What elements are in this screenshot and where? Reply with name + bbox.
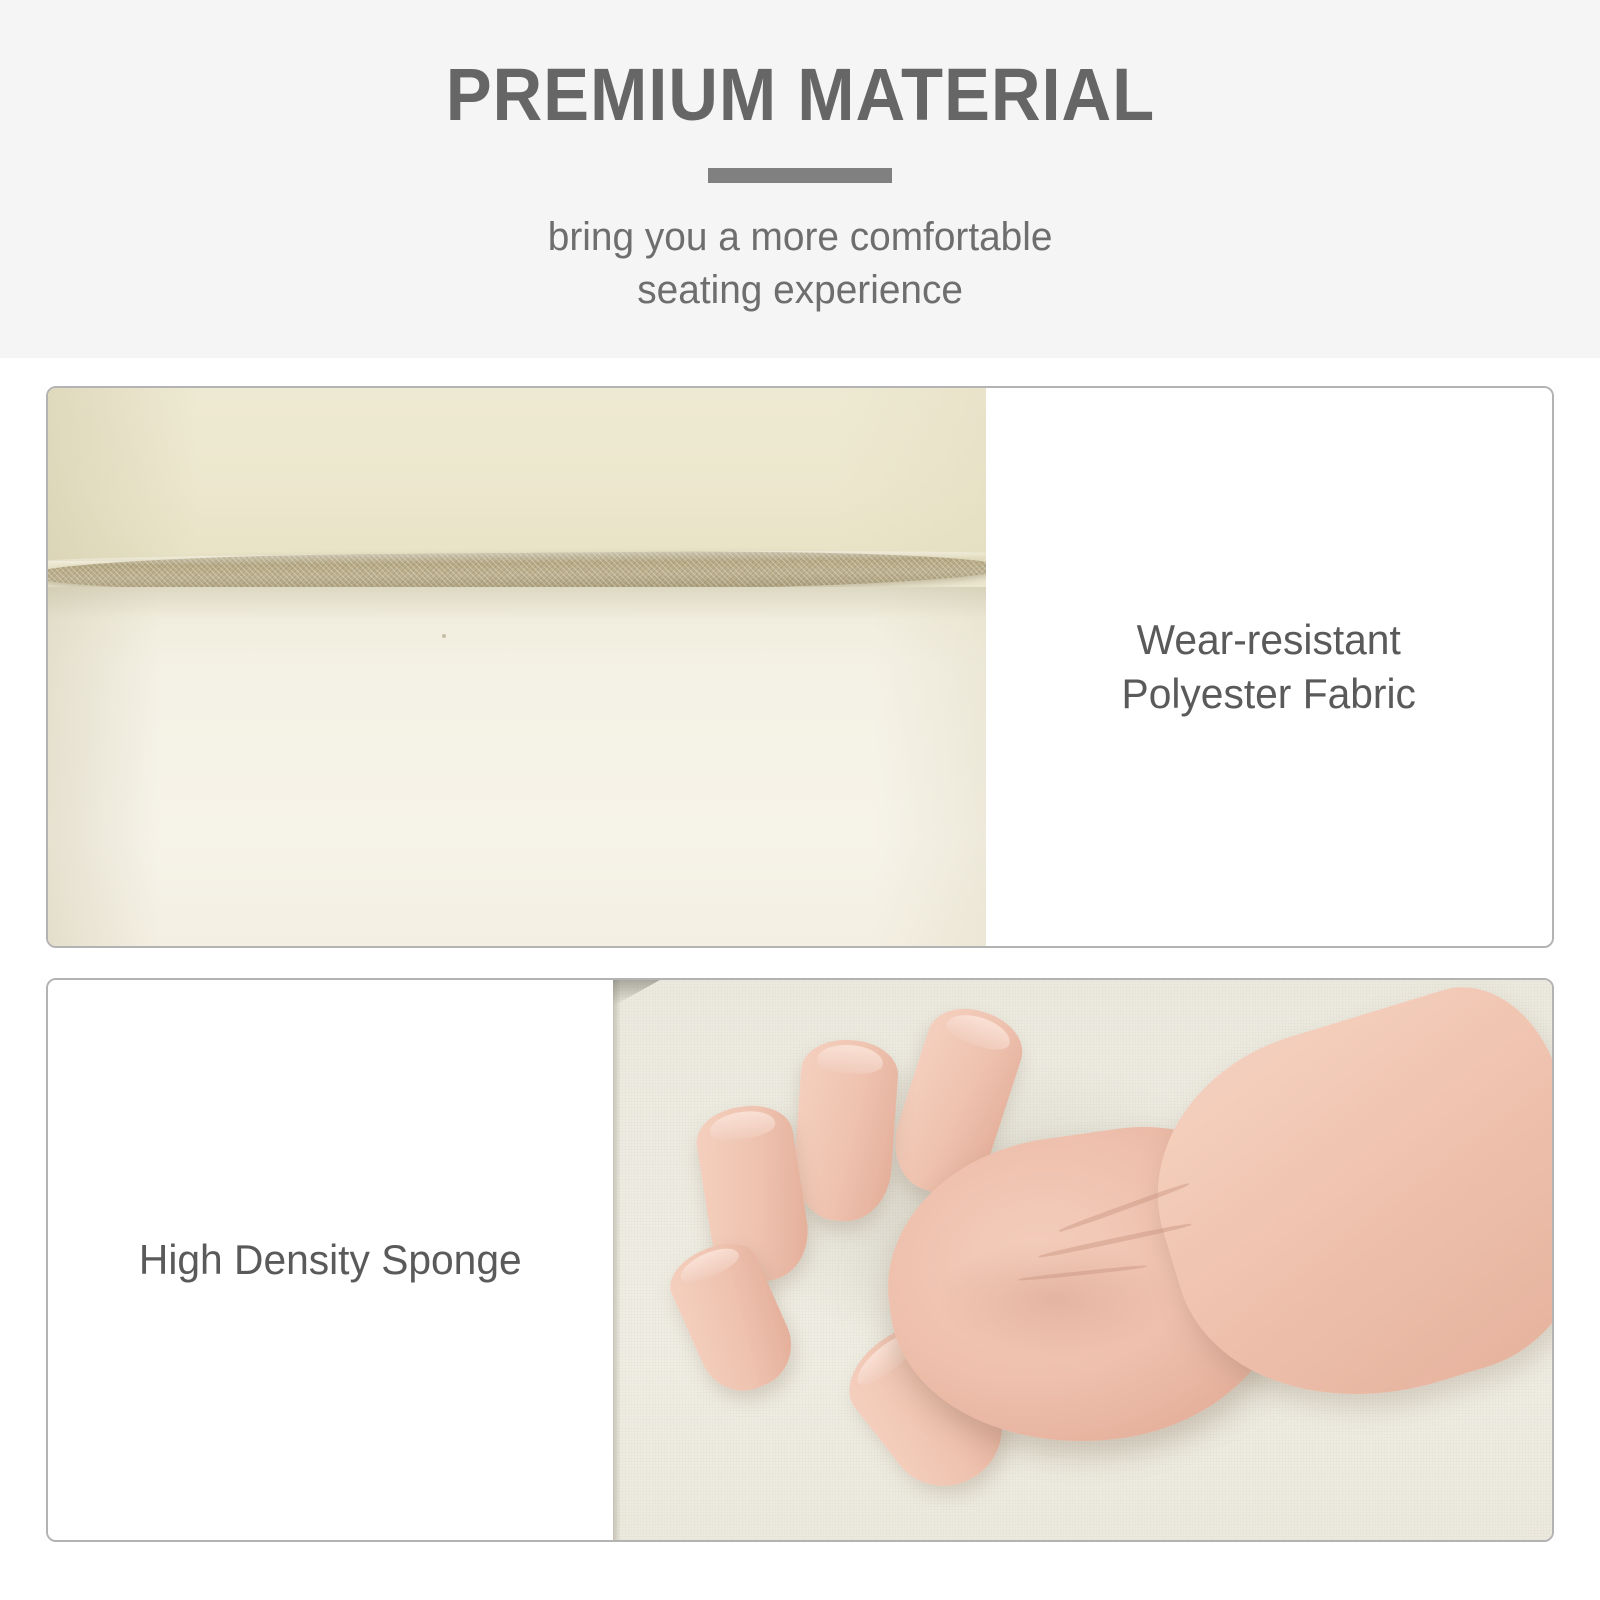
sponge-left-edge-shadow [613, 980, 621, 1540]
fingernail [943, 1007, 1014, 1054]
fingernail [817, 1044, 884, 1076]
header-band: PREMIUM MATERIAL bring you a more comfor… [0, 0, 1600, 358]
knuckle-shading [935, 1238, 1174, 1359]
feature-card-polyester-fabric: Wear-resistant Polyester Fabric [46, 386, 1554, 948]
hand-illustration [632, 986, 1552, 1535]
title-divider [708, 168, 892, 183]
foam-upper-shading [48, 388, 986, 561]
fingernail [708, 1107, 777, 1143]
premium-material-infographic: PREMIUM MATERIAL bring you a more comfor… [0, 0, 1600, 1600]
sponge-caption-pane: High Density Sponge [48, 980, 613, 1540]
feature-card-high-density-sponge: High Density Sponge [46, 978, 1554, 1542]
foam-lower-shading [48, 587, 986, 946]
feature-caption-high-density-sponge: High Density Sponge [139, 1233, 522, 1287]
fabric-caption-pane: Wear-resistant Polyester Fabric [986, 388, 1552, 946]
page-title: PREMIUM MATERIAL [445, 58, 1154, 132]
foam-speck [442, 634, 446, 638]
fingernail [676, 1241, 742, 1287]
sponge-hand-press-image [613, 980, 1552, 1540]
feature-caption-polyester-fabric: Wear-resistant Polyester Fabric [1122, 613, 1416, 721]
page-subtitle: bring you a more comfortable seating exp… [548, 211, 1053, 317]
fabric-closeup-image [48, 388, 986, 946]
